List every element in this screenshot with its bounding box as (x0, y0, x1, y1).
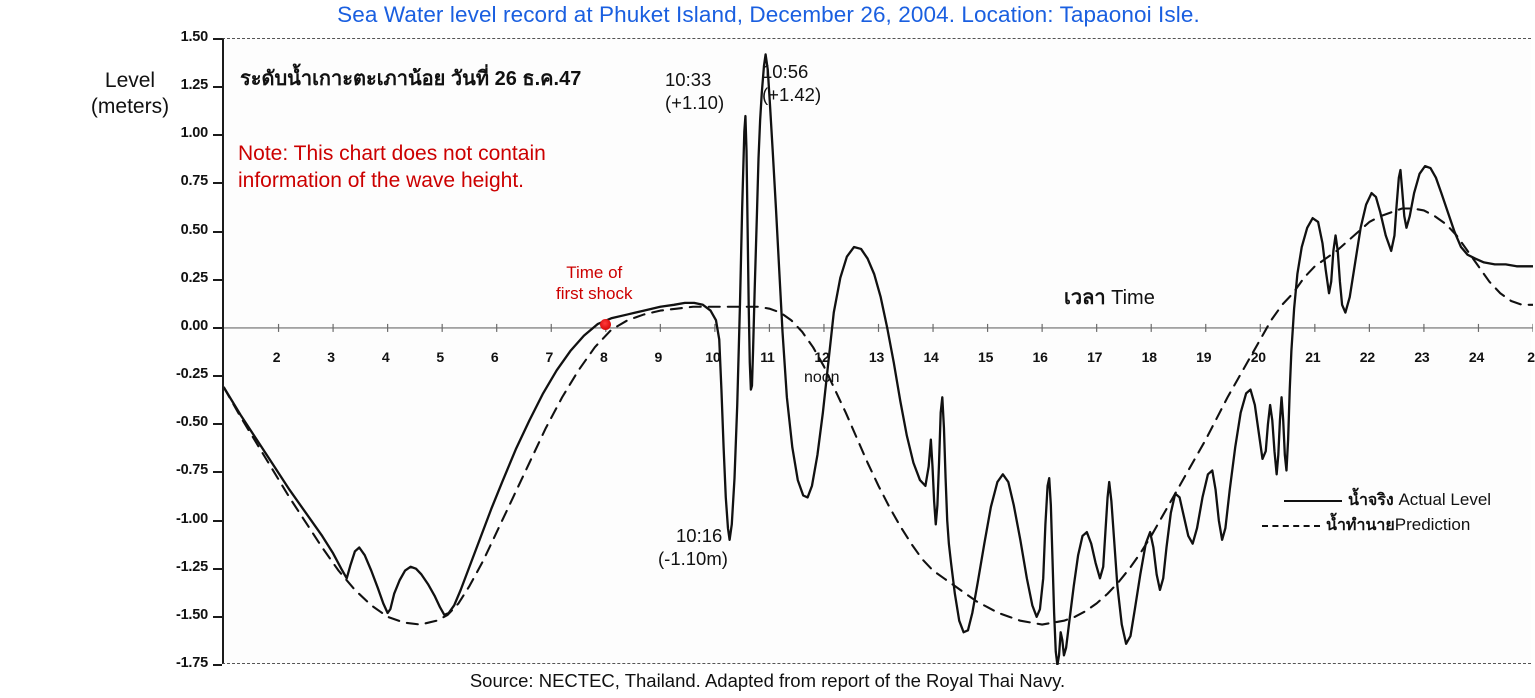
x-axis-label-en: Time (1111, 287, 1155, 309)
y-tick-mark (213, 86, 222, 88)
page-title-text: Sea Water level record at Phuket Island,… (337, 2, 1200, 28)
y-tick-label: 1.25 (144, 77, 208, 93)
y-tick-mark (213, 471, 222, 473)
x-tick-label: 23 (1407, 349, 1437, 365)
x-tick-label: 2 (1516, 349, 1535, 365)
chart-note: Note: This chart does not contain inform… (238, 140, 546, 195)
y-tick-label: -1.00 (144, 511, 208, 527)
y-tick-mark (213, 134, 222, 136)
y-tick-label: 0.25 (144, 270, 208, 286)
callout-peak-1056-value: (+1.42) (762, 83, 821, 106)
callout-trough-1016-value: (-1.10m) (658, 547, 728, 570)
callout-trough-1016-time: 10:16 (676, 524, 728, 547)
y-tick-label: 1.50 (144, 29, 208, 45)
y-axis-label-line2: (meters) (60, 94, 200, 120)
first-shock-marker-dot (600, 319, 611, 330)
y-tick-label: 0.00 (144, 318, 208, 334)
source-caption: Source: NECTEC, Thailand. Adapted from r… (0, 670, 1535, 692)
legend-prediction-english: Prediction (1395, 515, 1471, 534)
y-tick-mark (213, 568, 222, 570)
y-tick-mark (213, 38, 222, 40)
chart-legend: น้ำจริง Actual Level น้ำทำนายPrediction (1284, 488, 1491, 538)
y-tick-label: -0.25 (144, 366, 208, 382)
x-tick-label: 10 (698, 349, 728, 365)
x-tick-label: 9 (643, 349, 673, 365)
callout-peak-1033: 10:33 (+1.10) (665, 68, 724, 114)
legend-item-prediction: น้ำทำนายPrediction (1262, 513, 1491, 538)
y-tick-mark (213, 279, 222, 281)
y-axis-label: Level (meters) (60, 68, 200, 119)
y-tick-mark (213, 327, 222, 329)
x-tick-label: 2 (262, 349, 292, 365)
x-axis-label: เวลา Time (1064, 281, 1155, 313)
y-tick-label: 0.75 (144, 173, 208, 189)
callout-trough-1016: 10:16 (-1.10m) (676, 524, 728, 570)
x-tick-label: 24 (1461, 349, 1491, 365)
x-tick-label: 3 (316, 349, 346, 365)
x-tick-label: 17 (1080, 349, 1110, 365)
legend-swatch-solid-icon (1284, 500, 1342, 502)
first-shock-annotation: Time of first shock (556, 262, 633, 305)
x-tick-label: 5 (425, 349, 455, 365)
chart-note-line1: Note: This chart does not contain (238, 140, 546, 167)
x-tick-label: 6 (480, 349, 510, 365)
first-shock-line2: first shock (556, 283, 633, 304)
y-tick-mark (213, 423, 222, 425)
callout-peak-1056-time: 10:56 (762, 60, 821, 83)
y-tick-mark (213, 520, 222, 522)
first-shock-line1: Time of (556, 262, 633, 283)
x-tick-label: 16 (1025, 349, 1055, 365)
noon-label: noon (804, 369, 840, 387)
y-tick-mark (213, 182, 222, 184)
x-tick-label: 18 (1134, 349, 1164, 365)
chart-note-line2: information of the wave height. (238, 167, 546, 194)
x-tick-label: 13 (862, 349, 892, 365)
callout-peak-1056: 10:56 (+1.42) (762, 60, 821, 106)
thai-heading: ระดับน้ำเกาะตะเภาน้อย วันที่ 26 ธ.ค.47 (240, 62, 581, 94)
callout-peak-1033-time: 10:33 (665, 68, 724, 91)
x-axis-label-thai: เวลา (1064, 287, 1106, 309)
y-tick-label: 1.00 (144, 125, 208, 141)
y-tick-label: 0.50 (144, 222, 208, 238)
y-tick-mark (213, 375, 222, 377)
x-tick-label: 19 (1189, 349, 1219, 365)
x-tick-label: 15 (971, 349, 1001, 365)
y-tick-label: -0.50 (144, 414, 208, 430)
x-tick-label: 22 (1352, 349, 1382, 365)
y-tick-mark (213, 231, 222, 233)
screenshot-root: Sea Water level record at Phuket Island,… (0, 0, 1535, 698)
legend-prediction-thai: น้ำทำนาย (1326, 517, 1395, 534)
y-tick-label: -1.75 (144, 655, 208, 671)
y-tick-label: -1.25 (144, 559, 208, 575)
x-tick-label: 4 (371, 349, 401, 365)
callout-peak-1033-value: (+1.10) (665, 91, 724, 114)
y-tick-label: -0.75 (144, 462, 208, 478)
x-tick-label: 20 (1243, 349, 1273, 365)
legend-swatch-dashed-icon (1262, 525, 1320, 527)
page-title: Sea Water level record at Phuket Island,… (0, 2, 1535, 28)
x-tick-label: 12 (807, 349, 837, 365)
legend-actual-thai: น้ำจริง (1348, 492, 1394, 509)
y-tick-label: -1.50 (144, 607, 208, 623)
y-tick-mark (213, 616, 222, 618)
x-tick-label: 21 (1298, 349, 1328, 365)
y-tick-mark (213, 664, 222, 666)
x-tick-label: 8 (589, 349, 619, 365)
x-tick-label: 14 (916, 349, 946, 365)
x-tick-label: 7 (534, 349, 564, 365)
legend-actual-english: Actual Level (1398, 490, 1491, 509)
series-prediction-line (224, 209, 1533, 625)
legend-item-actual: น้ำจริง Actual Level (1284, 488, 1491, 513)
x-tick-label: 11 (752, 349, 782, 365)
